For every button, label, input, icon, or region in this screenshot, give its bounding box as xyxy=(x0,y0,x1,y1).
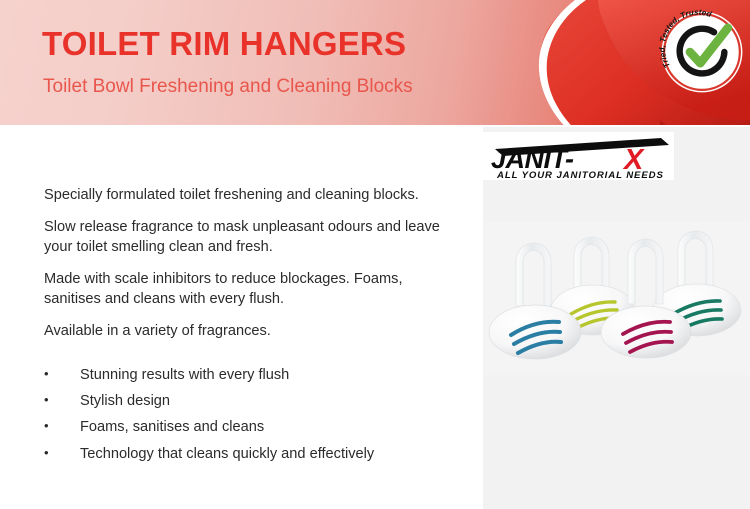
feature-bullet-list: • Stunning results with every flush • St… xyxy=(44,366,464,471)
list-item-label: Technology that cleans quickly and effec… xyxy=(80,445,464,463)
page-title: TOILET RIM HANGERS xyxy=(42,27,406,62)
list-item: • Stunning results with every flush xyxy=(44,366,464,384)
paragraph-3: Made with scale inhibitors to reduce blo… xyxy=(44,270,454,309)
rim-hangers-illustration xyxy=(483,222,750,375)
list-item-label: Stylish design xyxy=(80,392,464,410)
product-photo xyxy=(483,222,750,375)
page-subtitle: Toilet Bowl Freshening and Cleaning Bloc… xyxy=(43,76,413,99)
list-item-label: Foams, sanitises and cleans xyxy=(80,418,464,436)
bullet-marker-icon: • xyxy=(44,392,80,408)
paragraph-4: Available in a variety of fragrances. xyxy=(44,322,454,341)
bullet-marker-icon: • xyxy=(44,366,80,382)
description-paragraphs: Specially formulated toilet freshening a… xyxy=(44,186,454,354)
list-item: • Stylish design xyxy=(44,392,464,410)
logo-tagline: ALL YOUR JANITORIAL NEEDS xyxy=(496,170,664,180)
janit-x-logo-icon: JANIT- X ALL YOUR JANITORIAL NEEDS xyxy=(483,132,674,180)
tried-tested-trusted-badge: Tried, Tested, Trusted xyxy=(659,8,745,96)
paragraph-2: Slow release fragrance to mask unpleasan… xyxy=(44,218,454,257)
list-item-label: Stunning results with every flush xyxy=(80,366,464,384)
list-item: • Foams, sanitises and cleans xyxy=(44,418,464,436)
bullet-marker-icon: • xyxy=(44,445,80,461)
list-item: • Technology that cleans quickly and eff… xyxy=(44,445,464,463)
brand-logo: JANIT- X ALL YOUR JANITORIAL NEEDS xyxy=(483,132,674,180)
slide-canvas: TOILET RIM HANGERS Toilet Bowl Freshenin… xyxy=(0,0,750,509)
bullet-marker-icon: • xyxy=(44,418,80,434)
paragraph-1: Specially formulated toilet freshening a… xyxy=(44,186,454,205)
header-banner: TOILET RIM HANGERS Toilet Bowl Freshenin… xyxy=(0,0,750,125)
